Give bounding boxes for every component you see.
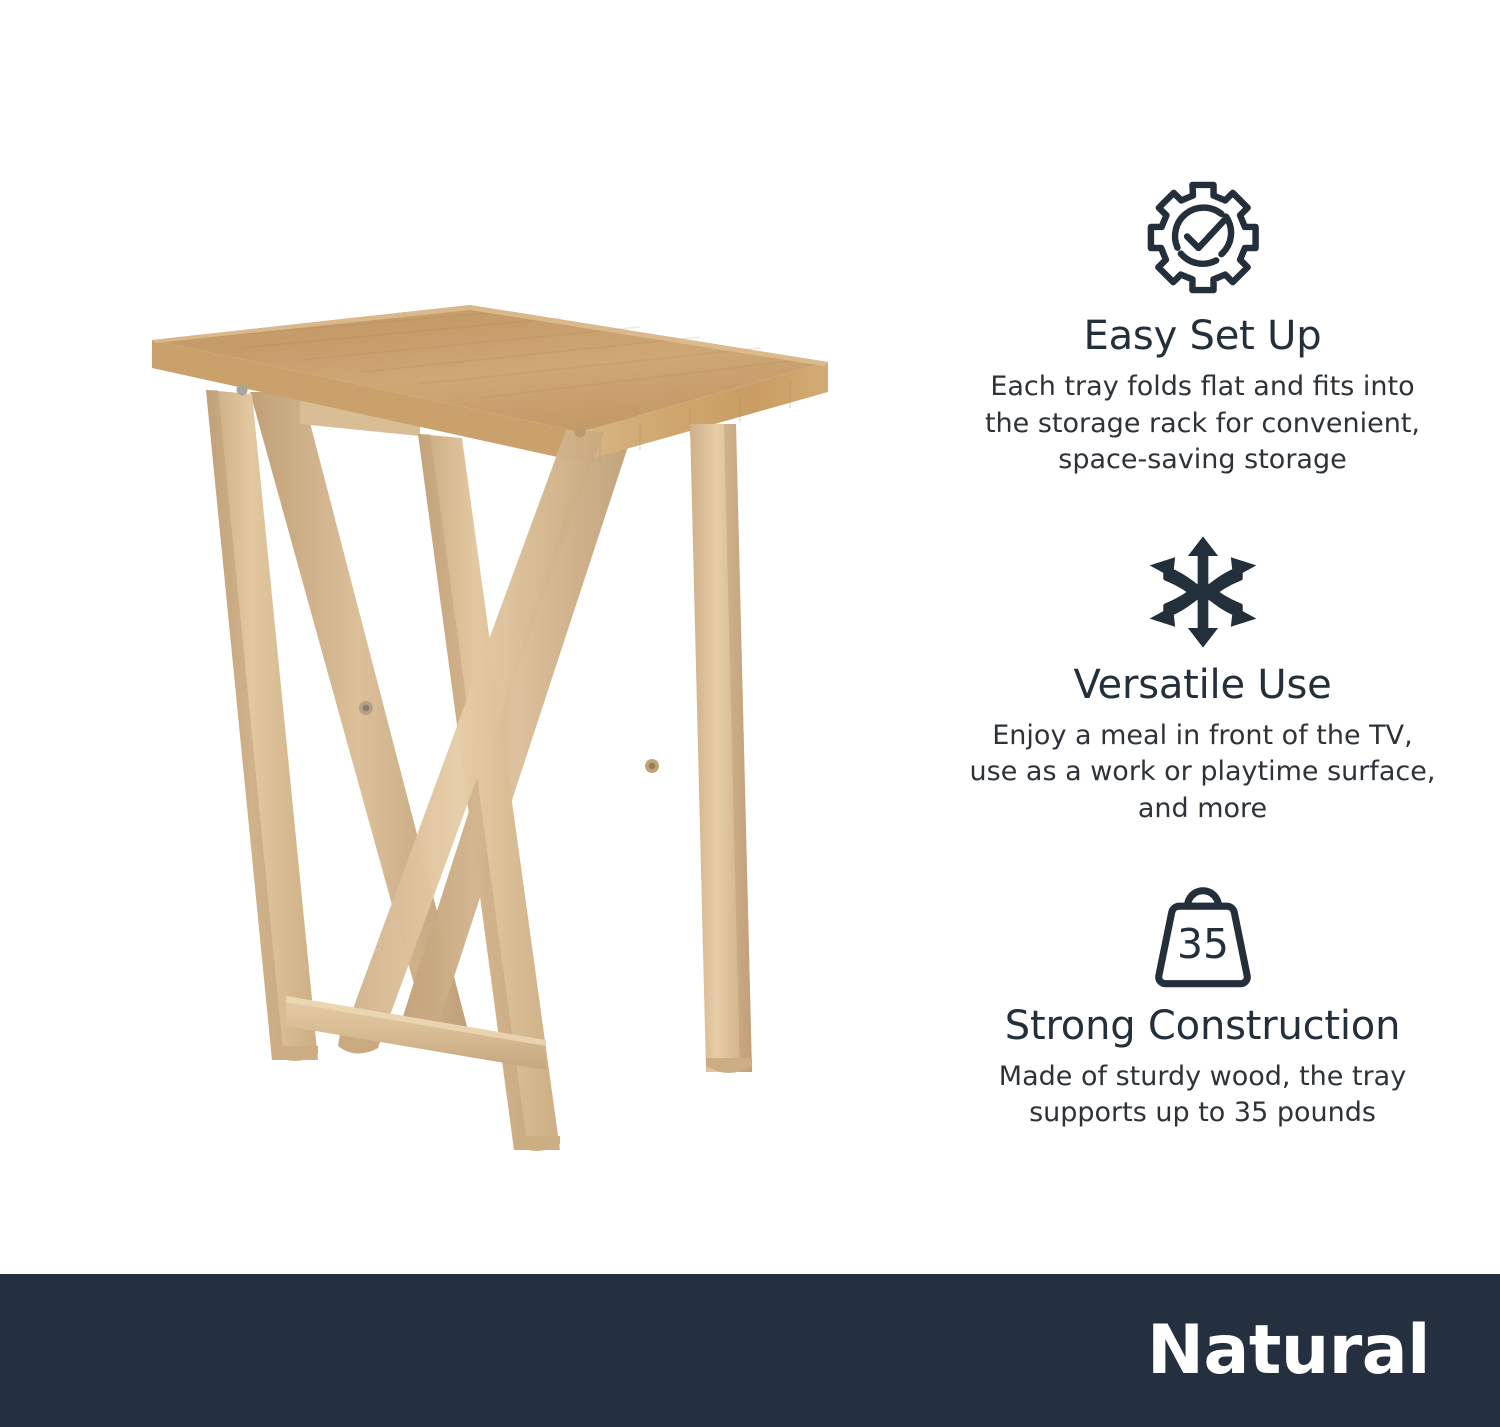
feature-versatile-use: Versatile Use Enjoy a meal in front of t…	[930, 536, 1475, 827]
weight-35-icon: 35	[1145, 883, 1261, 989]
color-name-label: Natural	[1147, 1317, 1430, 1385]
feature-title: Easy Set Up	[1084, 313, 1322, 359]
color-banner: Natural	[0, 1274, 1500, 1427]
hinge-screw-top-left	[237, 385, 248, 396]
weight-value: 35	[1177, 920, 1229, 968]
gear-check-icon	[1141, 175, 1265, 299]
pivot-screw-right	[645, 759, 659, 773]
feature-description: Made of sturdy wood, the tray supports u…	[965, 1059, 1440, 1131]
feature-easy-set-up: Easy Set Up Each tray folds flat and fit…	[930, 175, 1475, 478]
multi-direction-arrows-icon	[1145, 536, 1261, 648]
folding-tray-table-illustration	[0, 0, 900, 1274]
feature-title: Strong Construction	[1005, 1003, 1400, 1049]
feature-list: Easy Set Up Each tray folds flat and fit…	[930, 175, 1475, 1265]
feature-title: Versatile Use	[1073, 662, 1331, 708]
table-leg-front-right	[690, 424, 752, 1073]
infographic-canvas: Easy Set Up Each tray folds flat and fit…	[0, 0, 1500, 1427]
feature-strong-construction: 35 Strong Construction Made of sturdy wo…	[930, 883, 1475, 1132]
feature-description: Each tray folds flat and fits into the s…	[965, 369, 1440, 478]
pivot-screw-left	[359, 701, 373, 715]
product-image	[0, 0, 900, 1274]
hinge-screw-top-right	[575, 427, 586, 438]
feature-description: Enjoy a meal in front of the TV, use as …	[965, 718, 1440, 827]
